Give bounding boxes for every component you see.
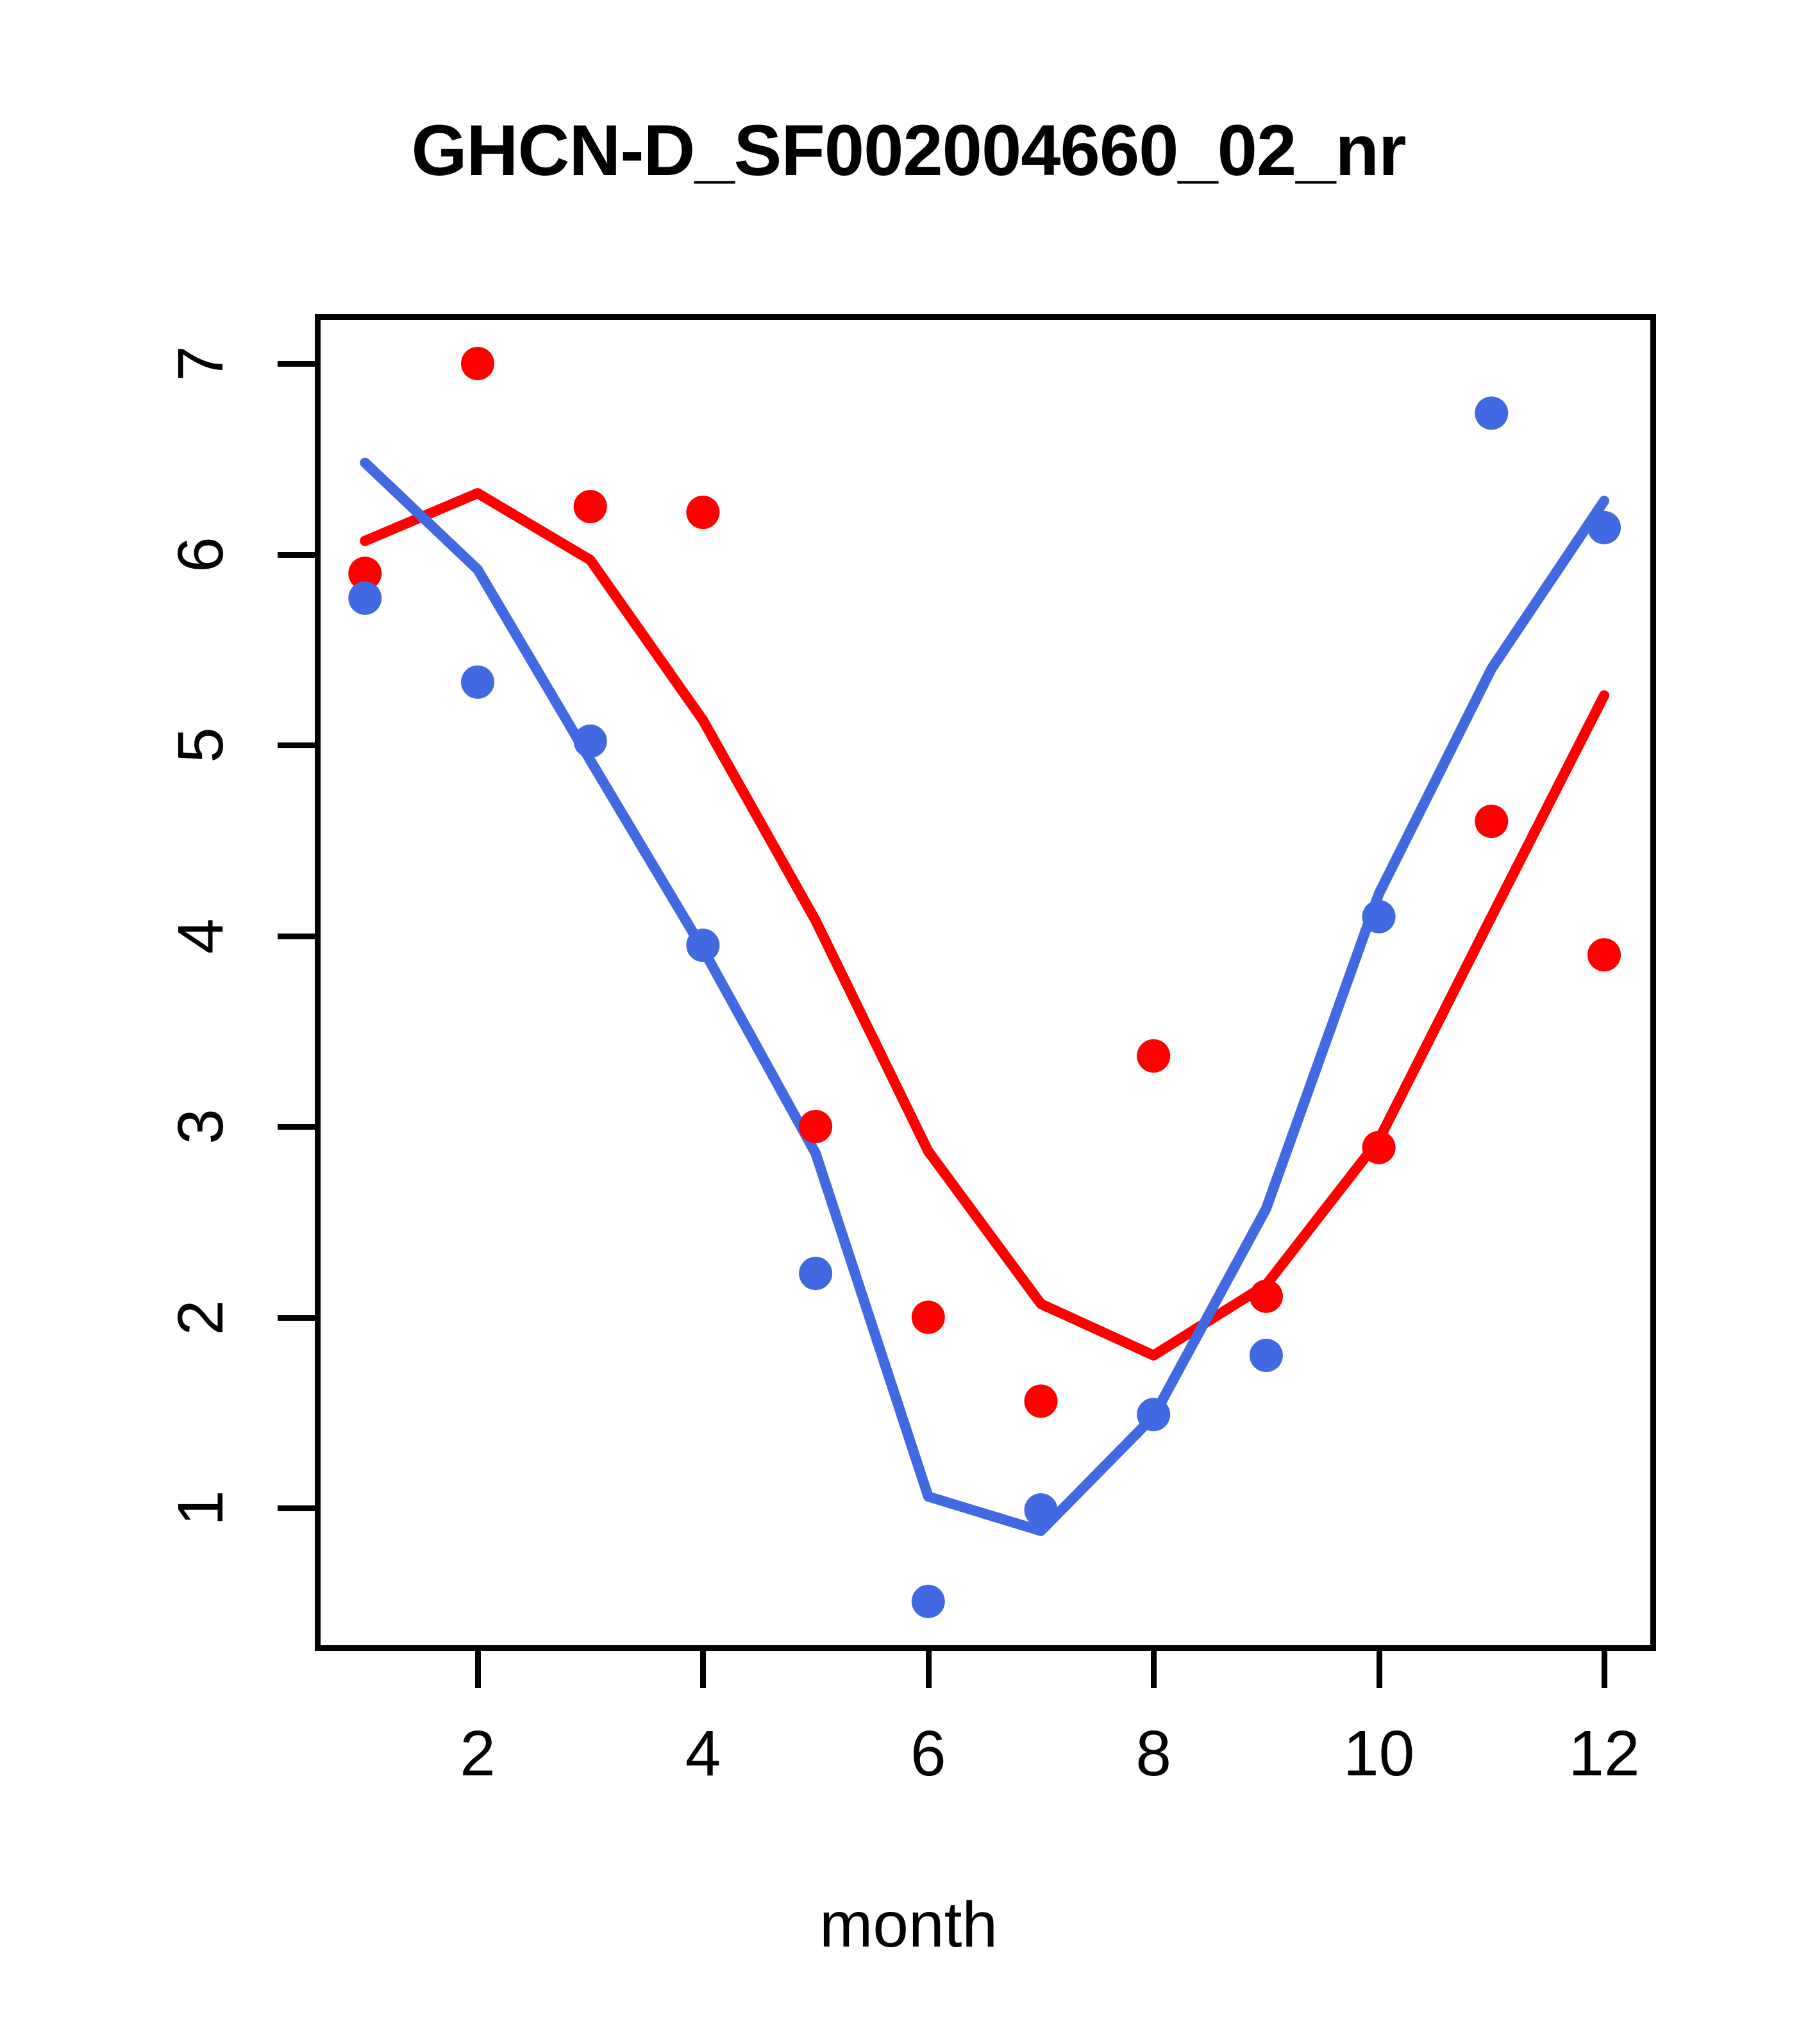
- y-tick-mark: [278, 1505, 315, 1511]
- x-tick-mark: [475, 1651, 481, 1688]
- y-tick-mark: [278, 361, 315, 367]
- x-tick-mark: [700, 1651, 706, 1688]
- series-line-red-line: [365, 493, 1604, 1355]
- data-point: [799, 1257, 832, 1290]
- data-point: [574, 725, 607, 758]
- x-tick-mark: [1602, 1651, 1607, 1688]
- data-point: [1475, 396, 1508, 430]
- page-title: GHCN-D_SF002004660_02_nr: [0, 109, 1817, 192]
- y-tick-label: 2: [169, 1279, 233, 1356]
- data-point: [799, 1110, 832, 1143]
- y-tick-label: 6: [169, 516, 233, 593]
- y-tick-label: 4: [169, 898, 233, 975]
- y-tick-mark: [278, 742, 315, 748]
- y-tick-mark: [278, 552, 315, 558]
- x-tick-mark: [1151, 1651, 1157, 1688]
- data-point: [686, 928, 719, 962]
- data-point: [912, 1585, 945, 1618]
- plot-canvas: [315, 314, 1656, 1651]
- y-tick-label: 7: [169, 325, 233, 402]
- data-point: [1362, 900, 1396, 934]
- data-point: [1362, 1131, 1396, 1164]
- y-tick-mark: [278, 1315, 315, 1321]
- series-line-blue-line: [365, 463, 1604, 1531]
- chart-figure: GHCN-D_SF002004660_02_nr 1234567 2468101…: [0, 0, 1817, 2044]
- x-tick-label: 6: [851, 1721, 1005, 1786]
- data-point: [1025, 1493, 1058, 1527]
- data-point: [1025, 1384, 1058, 1418]
- x-axis-label: month: [0, 1888, 1817, 1962]
- data-point: [1250, 1339, 1283, 1372]
- x-tick-label: 12: [1527, 1721, 1681, 1786]
- x-tick-label: 2: [401, 1721, 555, 1786]
- x-tick-mark: [1377, 1651, 1382, 1688]
- data-point: [348, 582, 381, 615]
- data-point: [574, 490, 607, 523]
- data-point: [1587, 938, 1621, 971]
- data-point: [1137, 1398, 1170, 1431]
- data-point: [1137, 1039, 1170, 1073]
- data-point: [686, 496, 719, 529]
- y-tick-label: 3: [169, 1088, 233, 1165]
- x-tick-label: 8: [1076, 1721, 1230, 1786]
- x-tick-mark: [926, 1651, 932, 1688]
- data-point: [461, 347, 494, 380]
- data-point: [1475, 805, 1508, 838]
- data-point: [461, 666, 494, 699]
- data-point: [1250, 1280, 1283, 1313]
- y-tick-mark: [278, 934, 315, 939]
- x-tick-label: 10: [1302, 1721, 1456, 1786]
- data-point: [912, 1301, 945, 1334]
- y-tick-label: 5: [169, 707, 233, 783]
- y-tick-label: 1: [169, 1470, 233, 1546]
- y-tick-mark: [278, 1124, 315, 1130]
- data-point: [1587, 511, 1621, 544]
- x-tick-label: 4: [626, 1721, 780, 1786]
